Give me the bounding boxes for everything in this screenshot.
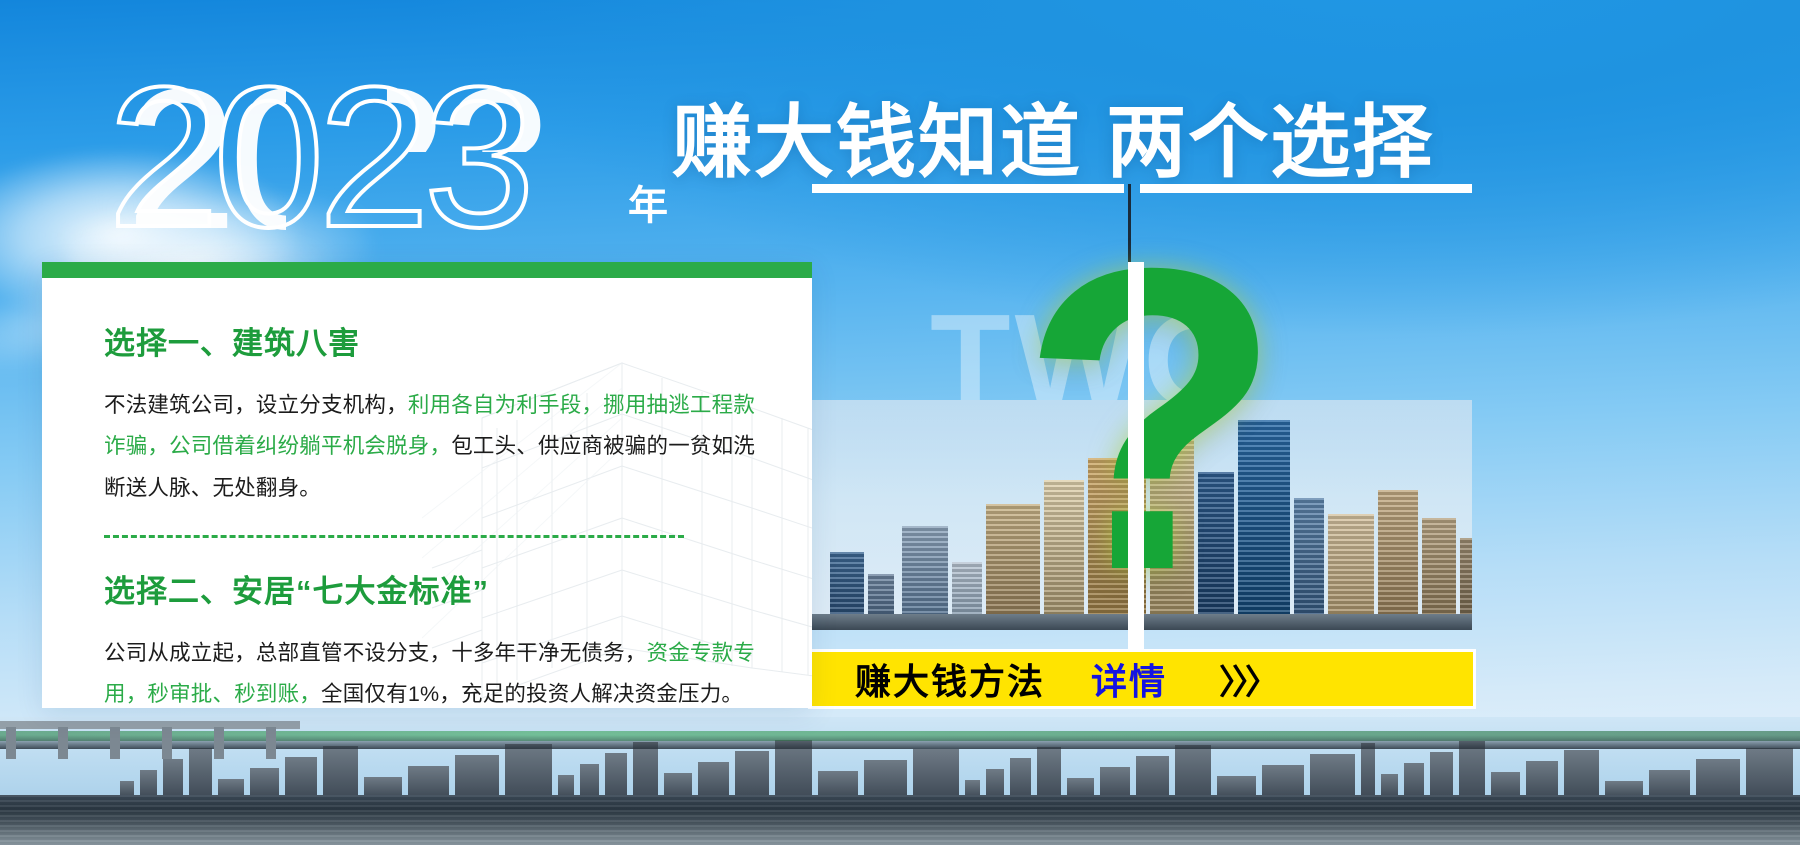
- skyline-building: [1564, 750, 1599, 797]
- skyline-building: [558, 775, 574, 797]
- skyline-building: [1310, 754, 1355, 797]
- bridge-decoration: [0, 717, 300, 759]
- section-1-body: 不法建筑公司，设立分支机构，利用各自为利手段，挪用抽逃工程款诈骗，公司借着纠纷躺…: [104, 385, 772, 509]
- cta-banner[interactable]: 赚大钱方法 详情 〉〉〉: [808, 649, 1476, 709]
- content-card: 选择一、建筑八害 不法建筑公司，设立分支机构，利用各自为利手段，挪用抽逃工程款诈…: [42, 262, 812, 708]
- skyline-building: [163, 759, 183, 797]
- section-2-title: 选择二、安居“七大金标准”: [104, 566, 772, 611]
- card-section-2: 选择二、安居“七大金标准” 公司从成立起，总部直管不设分支，十多年干净无债务，资…: [104, 566, 772, 708]
- bridge-pier: [110, 727, 120, 759]
- skyline-building: [1361, 743, 1375, 797]
- card-section-1: 选择一、建筑八害 不法建筑公司，设立分支机构，利用各自为利手段，挪用抽逃工程款诈…: [104, 318, 772, 509]
- poster-canvas: 2023 2023 2023 年 赚大钱知道 两个选择 TWO choices …: [0, 0, 1800, 845]
- run-black: 不法建筑公司，设立分支机构，: [104, 393, 408, 417]
- skyline-building: [140, 770, 157, 797]
- skyline-building: [664, 773, 692, 797]
- skyline-building: [505, 744, 552, 797]
- bottom-skyline-strip: [0, 717, 1800, 845]
- skyline-building: [250, 768, 279, 797]
- skyline-building: [605, 753, 627, 797]
- skyline-building: [1430, 752, 1453, 797]
- page-title: 赚大钱知道 两个选择: [672, 78, 1434, 194]
- skyline-building: [698, 762, 729, 797]
- skyline-building: [735, 751, 769, 797]
- cta-sub-label: 详情: [1091, 653, 1167, 705]
- skyline-building: [1381, 774, 1398, 797]
- skyline-building: [1746, 748, 1793, 797]
- skyline-building: [1649, 770, 1690, 797]
- skyline-building: [1404, 763, 1424, 797]
- skyline-building: [913, 749, 959, 797]
- skyline-building: [323, 746, 358, 797]
- section-2-body: 公司从成立起，总部直管不设分支，十多年干净无债务，资金专款专用，秒审批、秒到账，…: [104, 633, 772, 708]
- building: [1294, 498, 1324, 630]
- skyline-building: [408, 766, 449, 797]
- skyline-building: [1262, 765, 1304, 797]
- card-content: 选择一、建筑八害 不法建筑公司，设立分支机构，利用各自为利手段，挪用抽逃工程款诈…: [42, 262, 812, 708]
- section-1-title: 选择一、建筑八害: [104, 318, 772, 363]
- chevron-right-icon: 〉〉〉: [1219, 655, 1275, 704]
- skyline-building: [1010, 758, 1031, 797]
- skyline-building: [1217, 776, 1256, 797]
- skyline-building: [818, 771, 858, 797]
- skyline-building: [864, 760, 907, 797]
- bridge-pier: [162, 727, 172, 759]
- section-divider: [104, 535, 684, 538]
- skyline-building: [986, 769, 1004, 797]
- question-mark-slit: [1128, 262, 1144, 662]
- bridge-pier: [58, 727, 68, 759]
- skyline-building: [1491, 772, 1520, 797]
- bridge-pier: [6, 727, 16, 759]
- building: [1378, 490, 1418, 630]
- skyline-building: [285, 757, 317, 797]
- strip-water: [0, 795, 1800, 845]
- skyline-building: [1175, 745, 1211, 797]
- skyline-building: [1037, 747, 1061, 797]
- skyline-building: [633, 742, 658, 797]
- skyline-building: [364, 777, 402, 797]
- skyline-building: [1136, 756, 1169, 797]
- bridge-pier: [214, 727, 224, 759]
- question-mark-icon: ?: [1020, 205, 1283, 635]
- cta-main-label: 赚大钱方法: [855, 653, 1045, 705]
- skyline-building: [1526, 761, 1558, 797]
- skyline-building: [1696, 759, 1740, 797]
- skyline-building: [580, 764, 599, 797]
- year-graphic: 2023 2023 2023: [108, 58, 708, 258]
- skyline-building: [455, 755, 499, 797]
- skyline-building: [1459, 741, 1485, 797]
- run-black: 全国仅有1%，充足的投资人解决资金压力。: [321, 682, 743, 706]
- run-black: 公司从成立起，总部直管不设分支，十多年干净无债务，: [104, 641, 647, 665]
- skyline-building: [1100, 767, 1130, 797]
- bridge-pier: [266, 727, 276, 759]
- building: [1328, 514, 1374, 630]
- year-suffix-label: 年: [628, 186, 668, 226]
